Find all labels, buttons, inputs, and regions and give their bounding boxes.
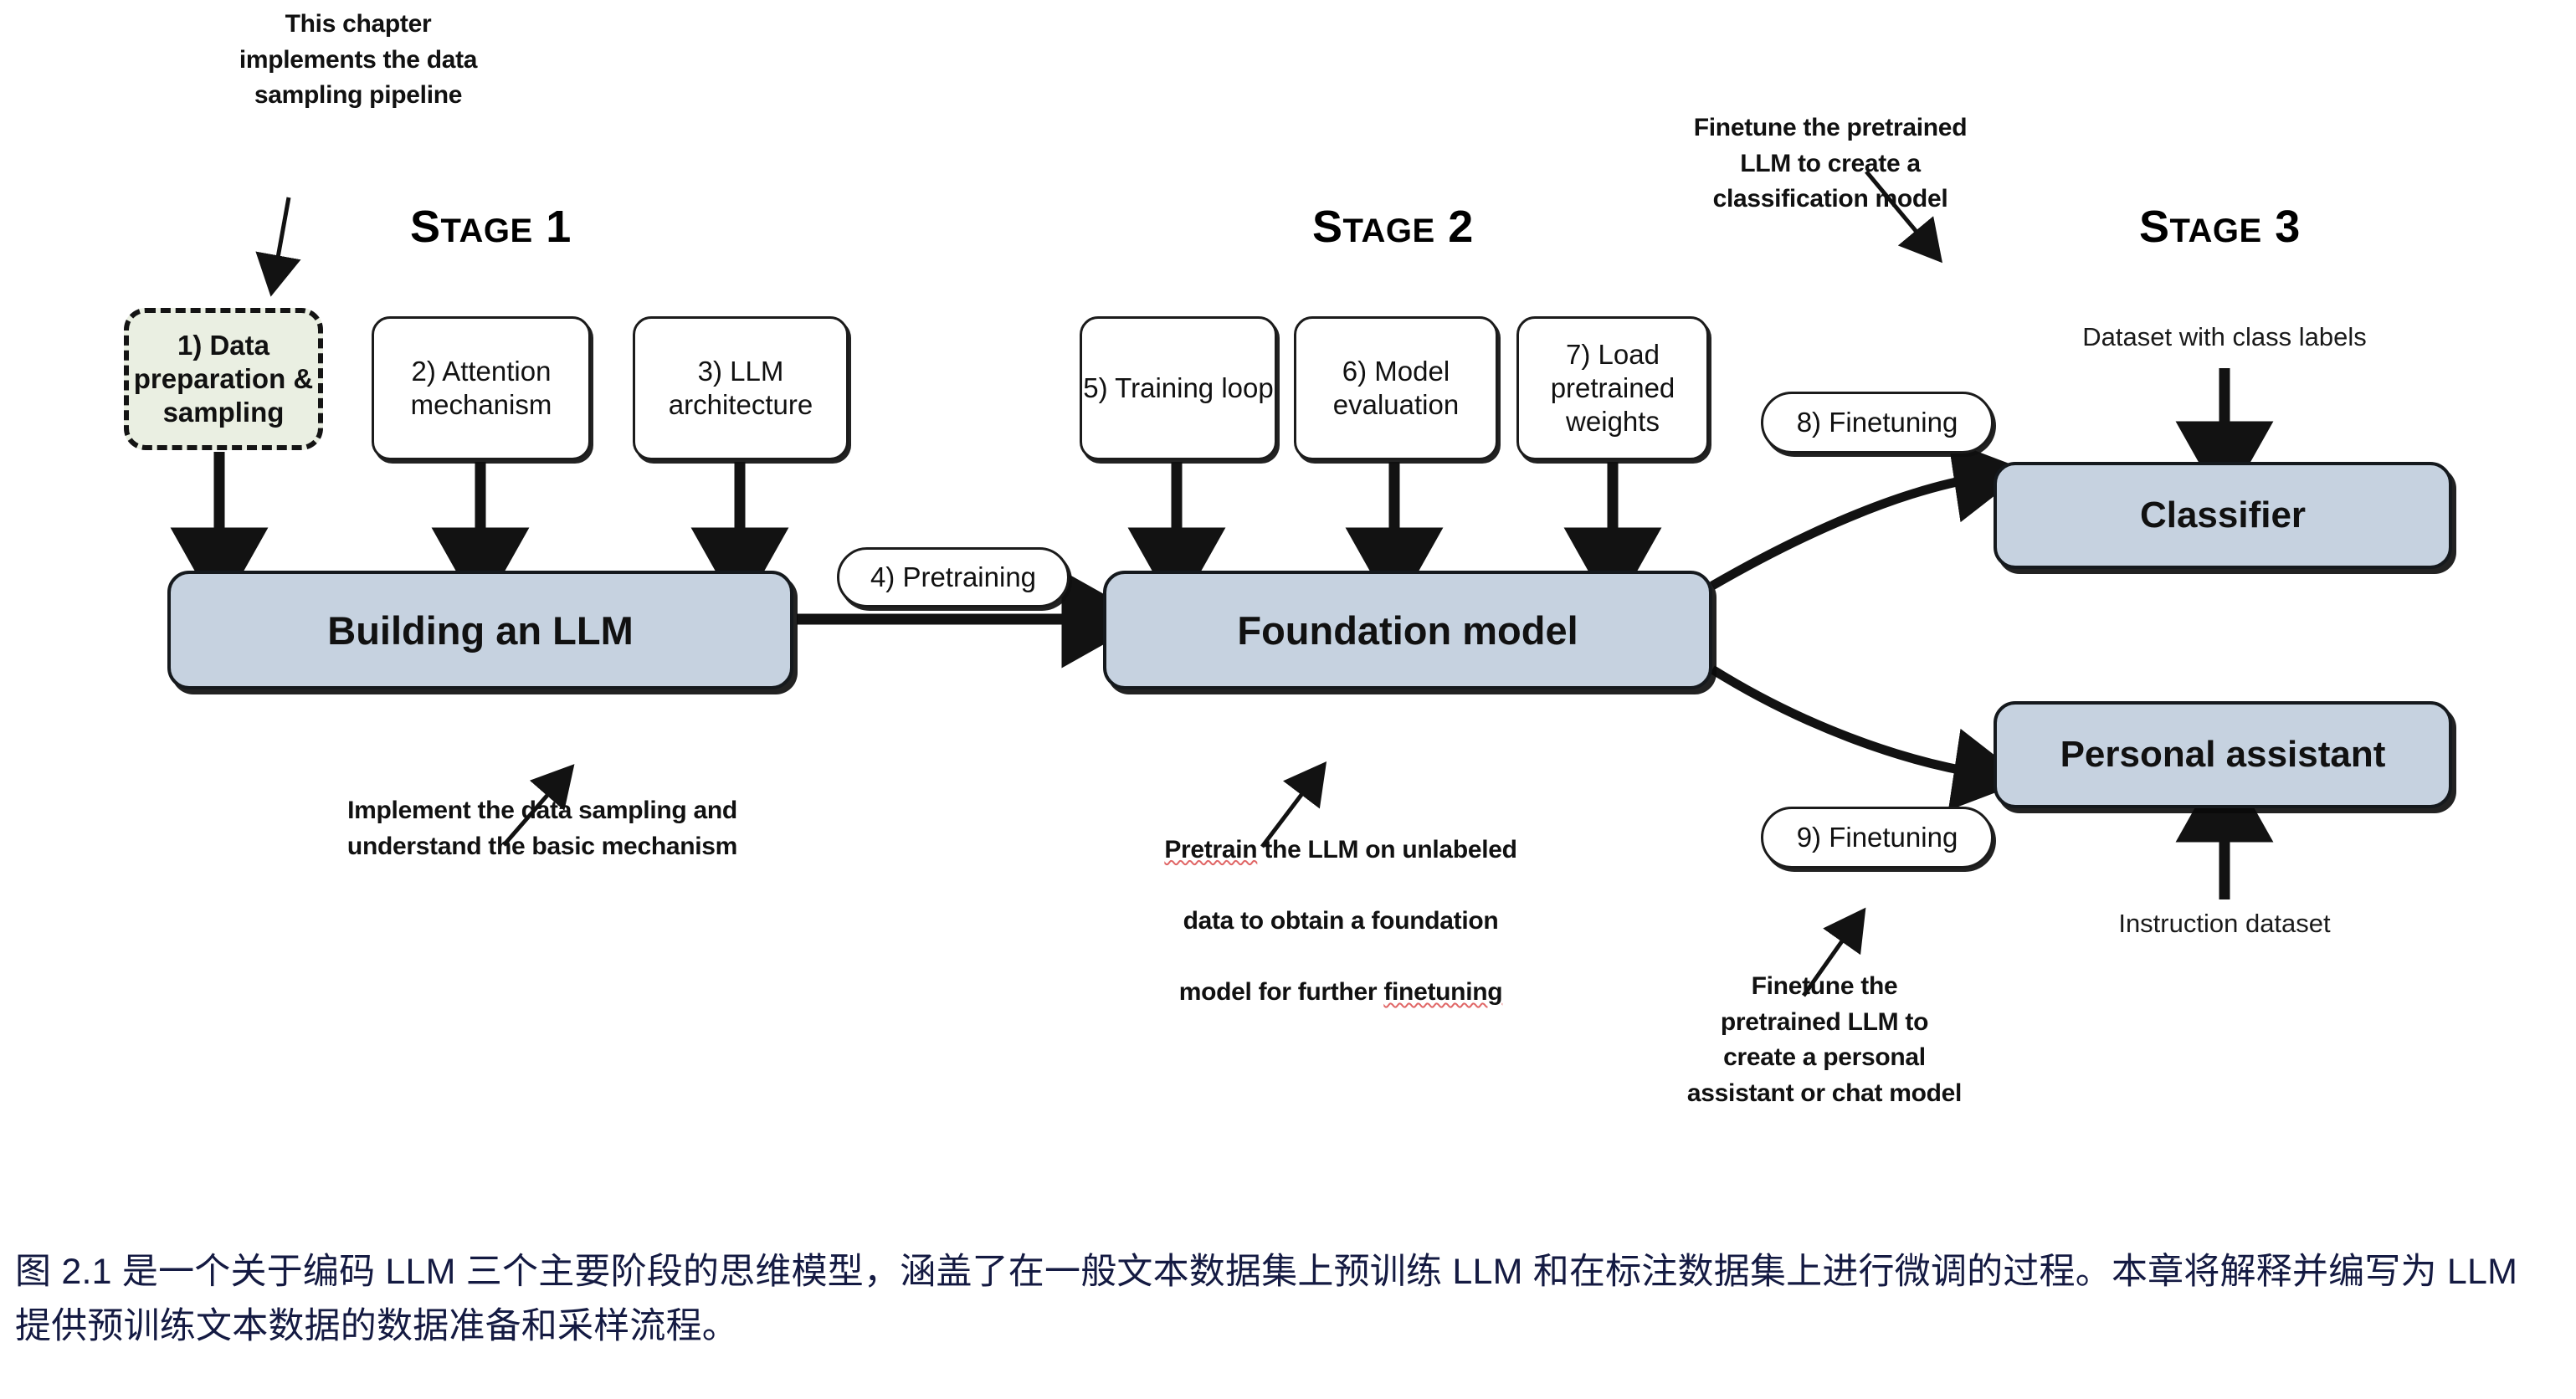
- annotation-finetune-classification: Finetune the pretrained LLM to create a …: [1634, 110, 2027, 218]
- stage-2-rest: TAGE: [1343, 213, 1435, 249]
- annotation-pretrain-llm: Pretrain the LLM on unlabeled data to ob…: [1081, 797, 1600, 1011]
- node-model-evaluation[interactable]: 6) Model evaluation: [1294, 316, 1498, 460]
- node-building-an-llm[interactable]: Building an LLM: [167, 571, 793, 689]
- annotation-finetuning-word: finetuning: [1383, 978, 1502, 1006]
- node-pretraining[interactable]: 4) Pretraining: [837, 547, 1070, 607]
- annotation-this-chapter: This chapter implements the data samplin…: [199, 7, 517, 114]
- annotation-pretrain-line2: data to obtain a foundation: [1183, 907, 1499, 935]
- annotation-pretrain-line3-start: model for further: [1179, 978, 1384, 1006]
- label-instruction-dataset: Instruction dataset: [1999, 909, 2450, 939]
- stage-3-rest: TAGE: [2170, 213, 2262, 249]
- stage-1-rest: TAGE: [441, 213, 533, 249]
- arrow-foundation-to-classifier: [1712, 477, 1983, 586]
- node-personal-assistant[interactable]: Personal assistant: [1994, 701, 2452, 808]
- annotation-pretrain-line1-rest: the LLM on unlabeled: [1257, 836, 1516, 863]
- node-foundation-model[interactable]: Foundation model: [1103, 571, 1712, 689]
- node-llm-architecture[interactable]: 3) LLM architecture: [633, 316, 849, 460]
- label-dataset-with-class-labels: Dataset with class labels: [1999, 322, 2450, 352]
- stage-2-cap: S: [1312, 202, 1343, 252]
- stage-3-cap: S: [2139, 202, 2170, 252]
- figure-caption: 图 2.1 是一个关于编码 LLM 三个主要阶段的思维模型，涵盖了在一般文本数据…: [15, 1245, 2563, 1355]
- arrow-this-chapter-to-data-prep: [275, 197, 289, 276]
- node-training-loop[interactable]: 5) Training loop: [1080, 316, 1277, 460]
- node-attention-mechanism[interactable]: 2) Attention mechanism: [372, 316, 591, 460]
- node-finetuning-9[interactable]: 9) Finetuning: [1761, 807, 1994, 869]
- stage-2-number: 2: [1448, 202, 1474, 252]
- annotation-implement-data-sampling: Implement the data sampling and understa…: [275, 793, 810, 864]
- annotation-finetune-personal-assistant: Finetune the pretrained LLM to create a …: [1573, 969, 2076, 1111]
- node-classifier[interactable]: Classifier: [1994, 462, 2452, 569]
- node-load-pretrained-weights[interactable]: 7) Load pretrained weights: [1516, 316, 1709, 460]
- node-finetuning-8[interactable]: 8) Finetuning: [1761, 392, 1994, 454]
- annotation-pretrain-word: Pretrain: [1164, 836, 1257, 863]
- stage-2-title: STAGE 2: [1312, 201, 1474, 253]
- stage-1-number: 1: [546, 202, 572, 252]
- stage-3-number: 3: [2275, 202, 2301, 252]
- arrow-foundation-to-personal-assistant: [1712, 669, 1983, 774]
- stage-1-title: STAGE 1: [410, 201, 572, 253]
- stage-3-title: STAGE 3: [2139, 201, 2301, 253]
- node-data-preparation-sampling[interactable]: 1) Data preparation & sampling: [124, 308, 323, 450]
- stage-1-cap: S: [410, 202, 441, 252]
